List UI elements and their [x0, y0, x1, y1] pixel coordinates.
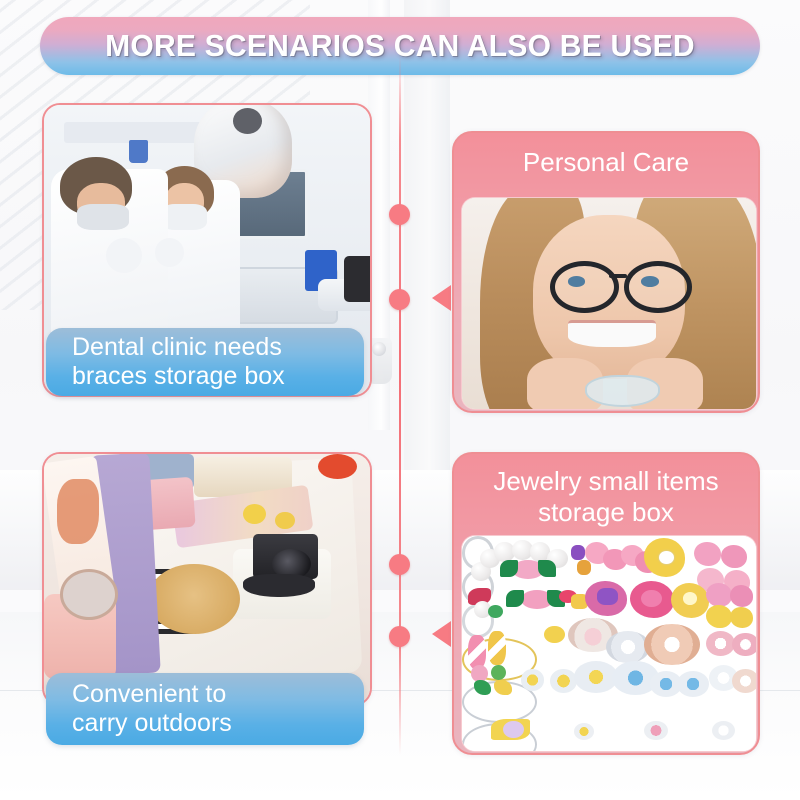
- personal-care-card: Personal Care: [452, 131, 760, 413]
- caption-line: Dental clinic needs: [72, 333, 364, 363]
- caption-line: braces storage box: [72, 362, 364, 392]
- carry-outdoors-caption: Convenient to carry outdoors: [46, 673, 364, 745]
- personal-care-photo: [461, 197, 757, 410]
- card-title-line: storage box: [454, 497, 758, 528]
- infographic-stage: MORE SCENARIOS CAN ALSO BE USED: [0, 0, 800, 800]
- card-title-line: Personal Care: [454, 147, 758, 178]
- arrow-left-icon-bottom: [432, 621, 451, 647]
- connector-dot-4: [389, 626, 410, 647]
- caption-line: carry outdoors: [72, 709, 364, 739]
- jewelry-storage-title: Jewelry small items storage box: [454, 454, 758, 528]
- personal-care-title: Personal Care: [454, 133, 758, 178]
- connector-dot-1: [389, 204, 410, 225]
- jewelry-storage-card: Jewelry small items storage box: [452, 452, 760, 755]
- connector-line: [399, 55, 401, 755]
- connector-dot-3: [389, 554, 410, 575]
- card-title-line: Jewelry small items: [454, 466, 758, 497]
- arrow-left-icon-top: [432, 285, 451, 311]
- jewelry-storage-photo: [461, 535, 757, 752]
- dental-clinic-caption: Dental clinic needs braces storage box: [46, 328, 364, 396]
- carry-outdoors-photo: [42, 452, 372, 706]
- connector-dot-2: [389, 289, 410, 310]
- caption-line: Convenient to: [72, 680, 364, 710]
